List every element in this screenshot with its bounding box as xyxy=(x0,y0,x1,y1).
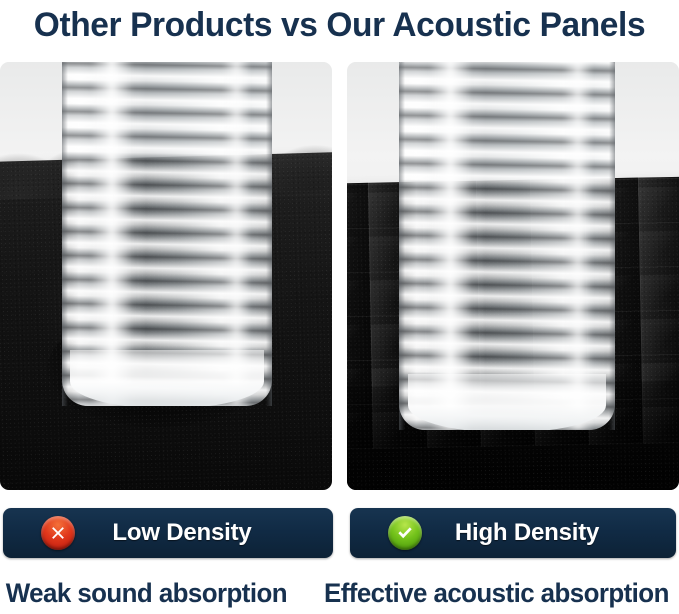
bottle-base-left xyxy=(70,350,263,406)
photo-panel-high-density xyxy=(347,62,679,490)
caption-high-density: Effective acoustic absorption xyxy=(324,578,665,609)
page-title: Other Products vs Our Acoustic Panels xyxy=(5,0,674,50)
photo-panel-low-density xyxy=(0,62,332,490)
badge-low-density: Low Density xyxy=(3,508,333,558)
bottle-edge-left xyxy=(399,62,405,430)
badge-label-low-density: Low Density xyxy=(75,519,333,547)
bottle-edge-right xyxy=(609,62,615,430)
water-bottle-left xyxy=(62,62,272,406)
photo-panel-row xyxy=(0,62,679,490)
check-circle-icon xyxy=(388,516,422,550)
bottle-edge-right xyxy=(266,62,272,406)
comparison-infographic: Other Products vs Our Acoustic Panels xyxy=(0,0,679,614)
caption-low-density: Weak sound absorption xyxy=(0,578,311,609)
bottle-edge-left xyxy=(62,62,68,406)
cross-circle-icon xyxy=(41,516,75,550)
caption-row: Weak sound absorption Effective acoustic… xyxy=(0,572,679,614)
badge-high-density: High Density xyxy=(350,508,676,558)
water-bottle-right xyxy=(399,62,615,430)
bottle-base-right xyxy=(408,374,607,430)
badge-label-high-density: High Density xyxy=(422,519,676,547)
